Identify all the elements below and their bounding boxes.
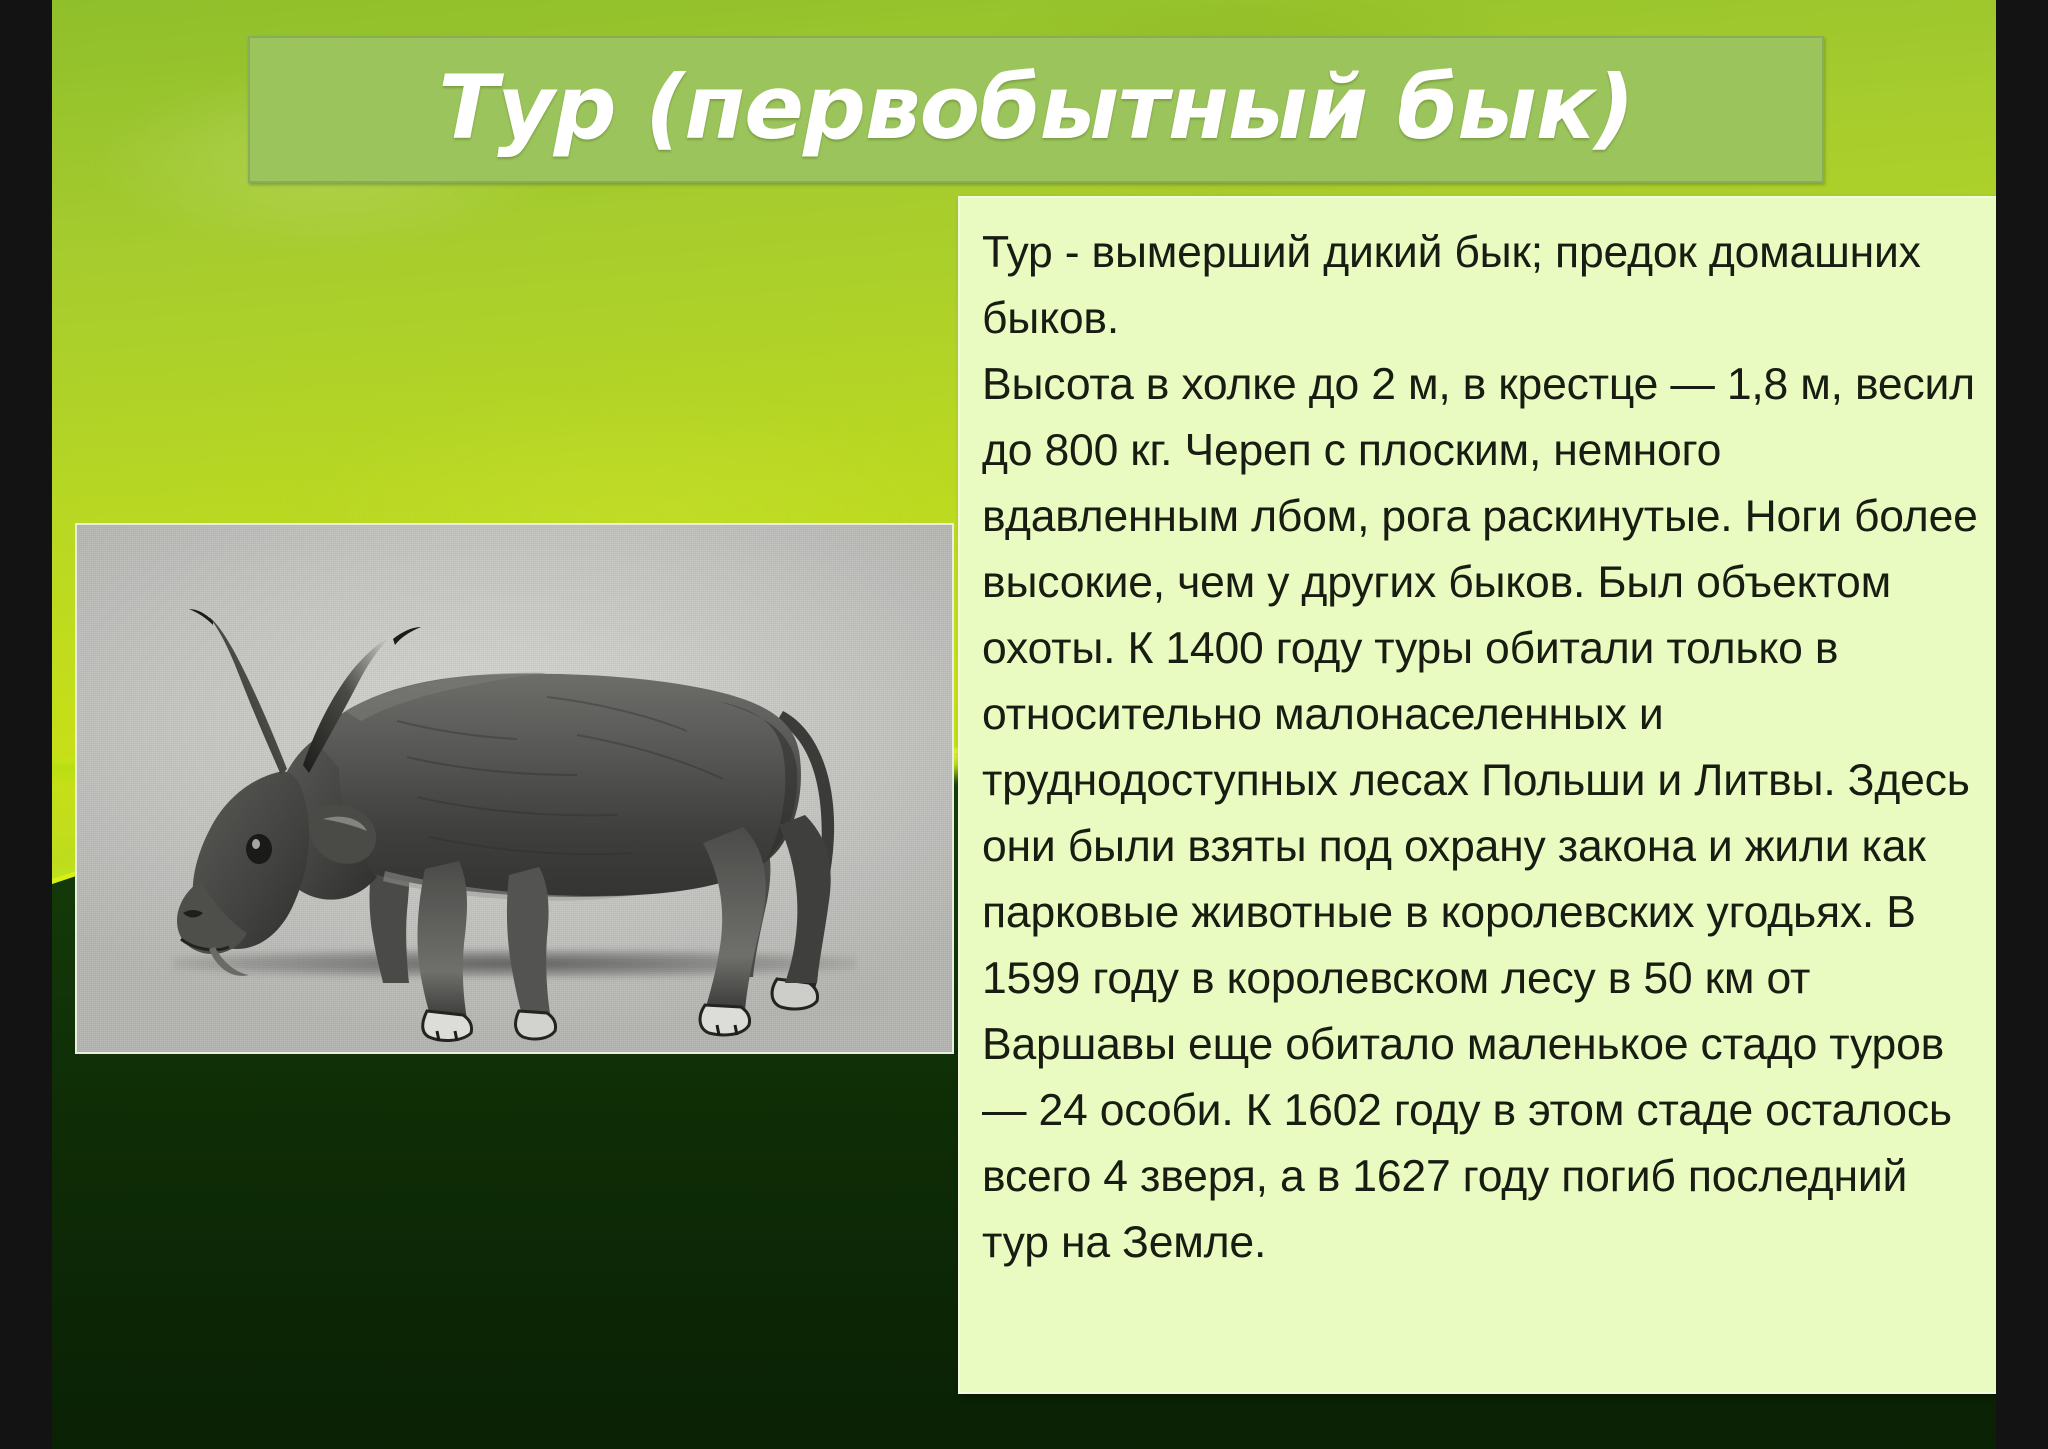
aurochs-image-frame	[75, 523, 954, 1054]
page-title: Тур (первобытный бык)	[438, 64, 1634, 152]
description-panel: Тур - вымерший дикий бык; предок домашни…	[958, 196, 1996, 1394]
screenshot-viewport: Тур (первобытный бык)	[0, 0, 2048, 1449]
presentation-slide: Тур (первобытный бык)	[52, 0, 1996, 1449]
aurochs-illustration	[77, 525, 952, 1052]
slide-title-banner: Тур (первобытный бык)	[248, 36, 1824, 183]
description-text: Тур - вымерший дикий бык; предок домашни…	[982, 220, 1978, 1276]
